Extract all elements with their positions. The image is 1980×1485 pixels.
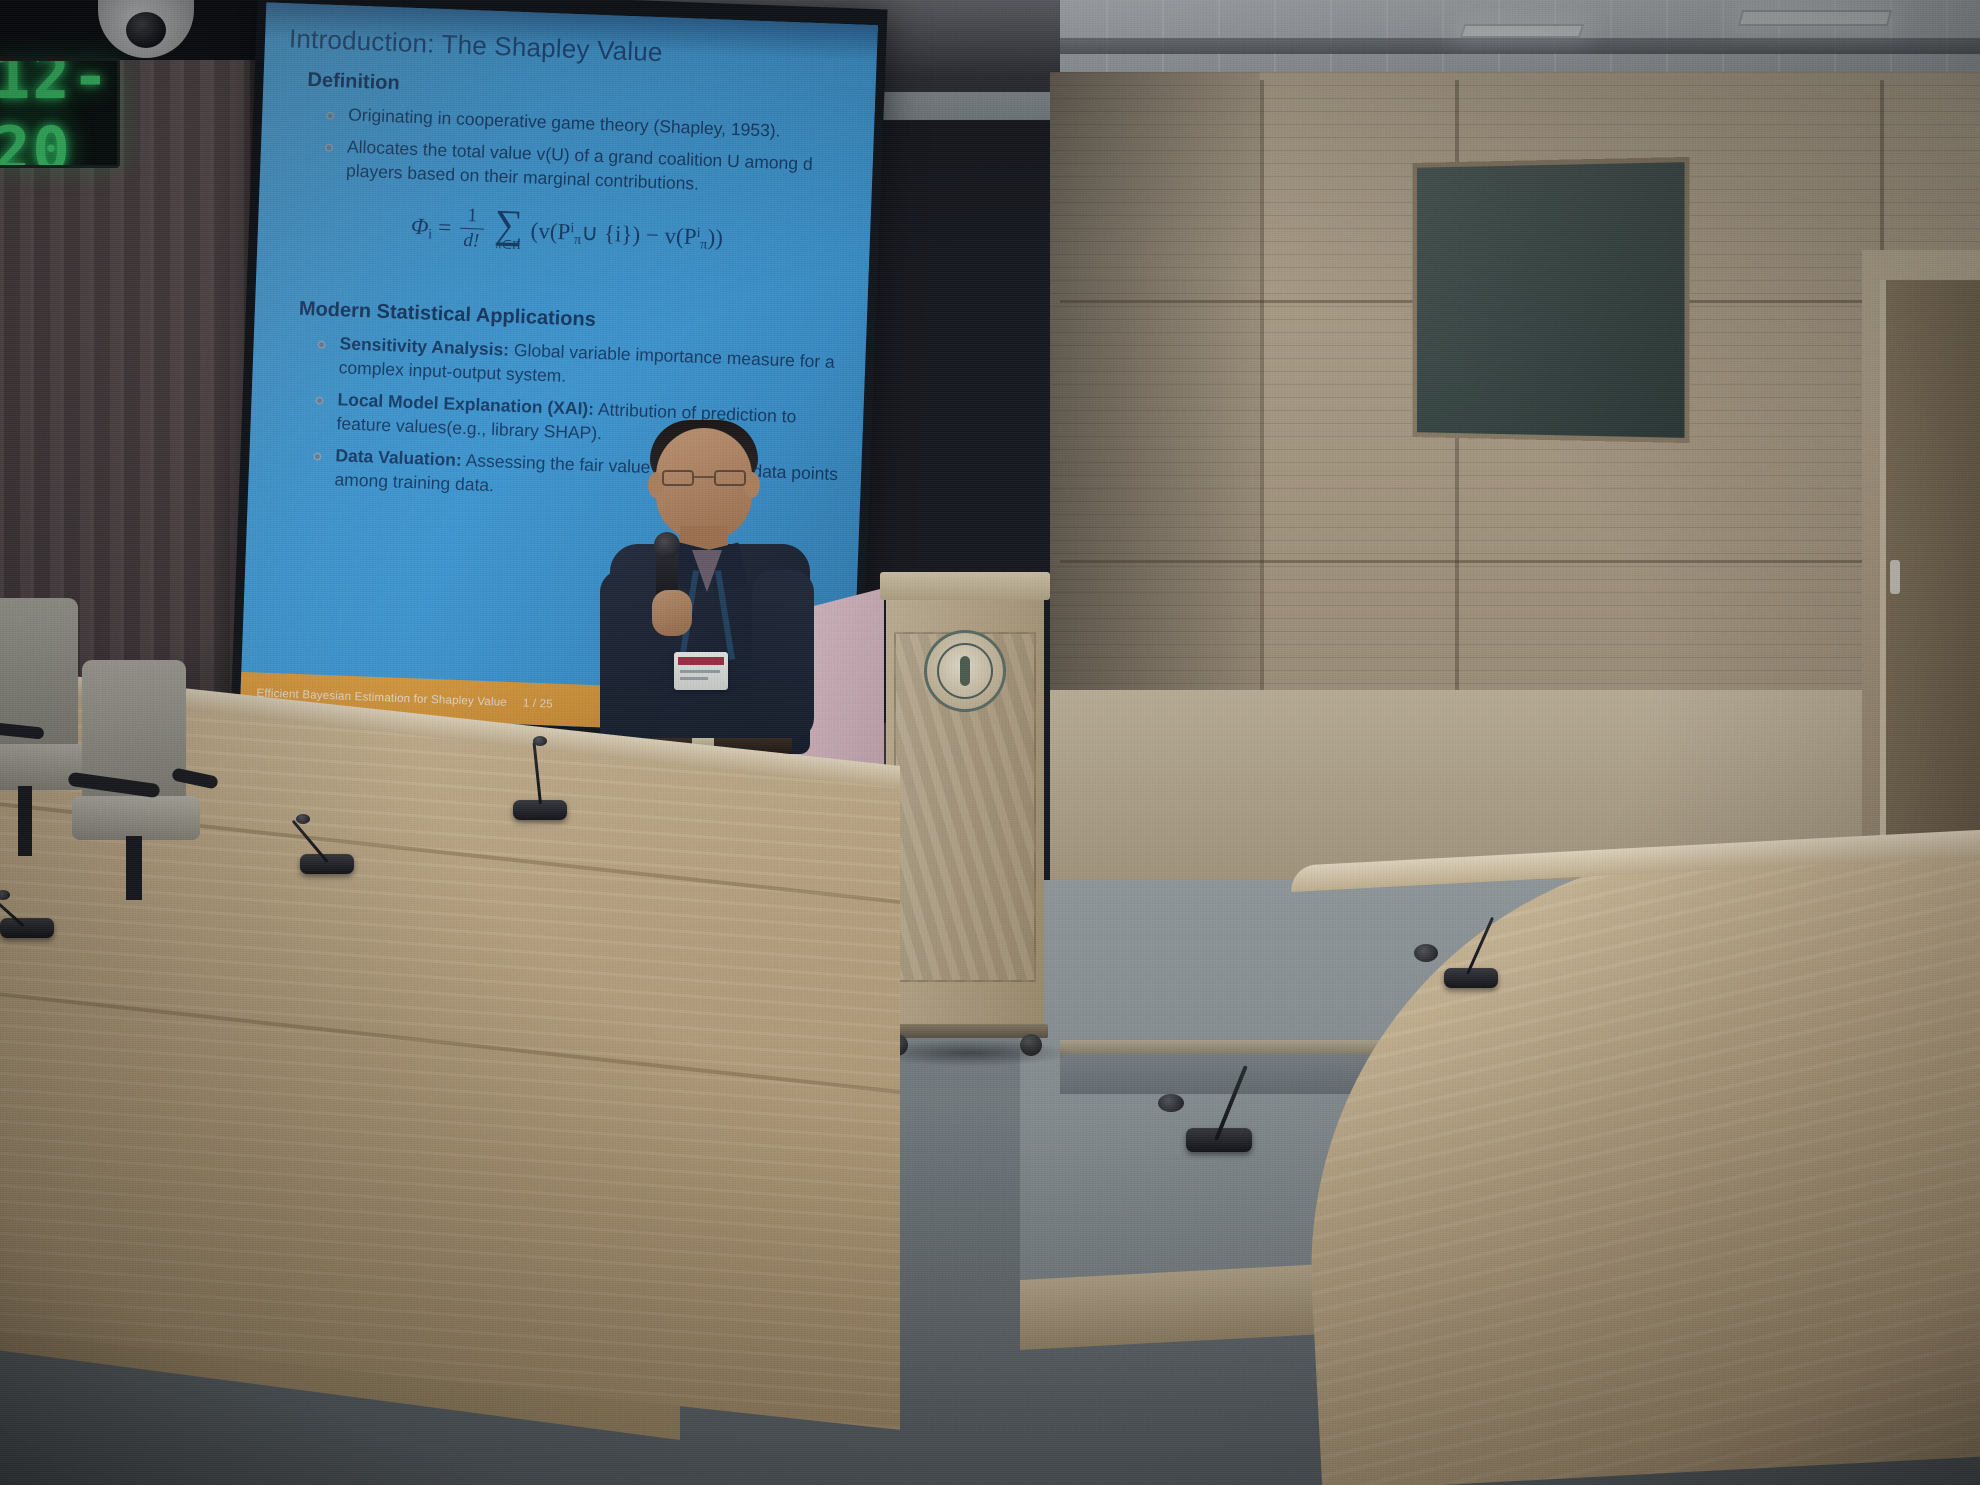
mic-base <box>300 854 354 874</box>
acoustic-panel <box>1412 157 1689 443</box>
podium <box>880 572 1050 1042</box>
dome-camera-icon <box>98 0 194 56</box>
mic-gooseneck <box>1466 917 1494 975</box>
camera-lens <box>126 12 166 48</box>
ceiling-light-1 <box>1460 24 1585 38</box>
formula-lhs-sub: i <box>428 227 433 243</box>
chair-post <box>126 836 142 900</box>
podium-top <box>880 572 1050 600</box>
formula-lhs: Φ <box>410 214 428 240</box>
presenter-glasses <box>662 470 746 486</box>
formula-body-open: (v(P <box>530 218 571 244</box>
led-clock: 12-20 <box>0 58 120 168</box>
seal-emblem <box>960 656 970 686</box>
institution-seal-icon <box>924 630 1006 712</box>
sigma-glyph: ∑ <box>494 208 524 240</box>
wall-seam <box>1060 560 1980 563</box>
desk-microphone <box>1140 1050 1270 1160</box>
fraction-denominator: d! <box>459 229 484 253</box>
microphone-head-icon <box>654 532 680 558</box>
fraction-numerator: 1 <box>460 205 485 230</box>
desk-microphone <box>505 760 575 820</box>
seal-inner-ring <box>937 643 993 699</box>
presenter-right-arm <box>752 570 814 740</box>
shapley-formula: Φi = 1 d! ∑ π∈Π (v(Piπ∪ {i}) − v(Piπ)) <box>283 198 850 266</box>
formula-equals: = <box>438 215 452 240</box>
presenter-ear-right <box>744 472 760 498</box>
ceiling-beam <box>1060 38 1980 54</box>
formula-fraction: 1 d! <box>459 205 485 253</box>
badge-header-bar <box>678 657 724 665</box>
bullet-item: Allocates the total value v(U) of a gran… <box>324 135 853 202</box>
bullet-lead: Data Valuation: <box>335 445 462 470</box>
chair-seat <box>72 796 200 840</box>
formula-body-close: )) <box>707 225 723 251</box>
glasses-lens-right <box>714 470 746 486</box>
name-badge <box>674 652 728 690</box>
mic-capsule-icon <box>296 814 310 824</box>
mic-capsule-icon <box>1414 944 1438 962</box>
mic-capsule-icon <box>0 890 10 900</box>
footer-page: 1 / 25 <box>523 697 553 710</box>
glasses-lens-left <box>662 470 694 486</box>
office-chair <box>72 660 212 920</box>
mic-capsule-icon <box>533 736 547 746</box>
podium-shadow <box>870 1040 1070 1066</box>
chair-post <box>18 786 32 856</box>
definition-bullet-list: Originating in cooperative game theory (… <box>324 103 855 202</box>
bullet-item: Sensitivity Analysis: Sensitivity Analys… <box>316 332 845 399</box>
sigma-subscript: π∈Π <box>494 238 523 254</box>
desk-microphone <box>290 818 380 878</box>
glasses-bridge <box>694 476 714 478</box>
presenter-hand <box>652 590 692 636</box>
ceiling-light-2 <box>1738 10 1892 26</box>
mic-capsule-icon <box>1158 1094 1184 1112</box>
bullet-lead: Sensitivity Analysis: <box>339 334 509 360</box>
formula-summation: ∑ π∈Π <box>494 208 524 253</box>
door-handle[interactable] <box>1890 560 1900 594</box>
badge-line <box>680 670 720 673</box>
lecture-hall-photo: 12-20 Introduction: The Shapley Value De… <box>0 0 1980 1485</box>
formula-body-mid: ∪ {i}) − v(P <box>581 220 697 249</box>
mic-base <box>1444 968 1498 988</box>
mic-base <box>0 918 54 938</box>
badge-line <box>680 677 708 680</box>
presenter-left-arm <box>600 570 660 750</box>
desk-microphone <box>1400 910 1520 1000</box>
led-clock-display: 12-20 <box>0 58 117 168</box>
